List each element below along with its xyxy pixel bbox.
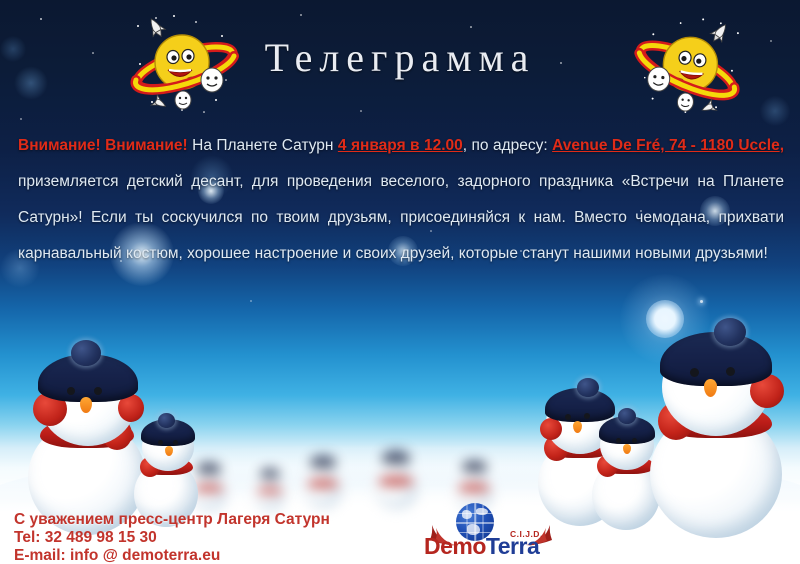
poster-header: Телеграмма: [0, 0, 800, 120]
footer-contact-block: С уважением пресс-центр Лагеря Сатурн Te…: [14, 511, 330, 564]
event-datetime: 4 января в 12.00: [338, 137, 463, 154]
footer-email: E-mail: info @ demoterra.eu: [14, 547, 330, 564]
telegram-body-text: Внимание! Внимание! На Планете Сатурн 4 …: [18, 128, 784, 272]
footer-phone: Tel: 32 489 98 15 30: [14, 529, 330, 547]
snowman-hat-pompom: [714, 318, 746, 346]
demoterra-logo: C.I.J.D. DemoTerra: [424, 503, 559, 561]
snowman-hat-pompom: [158, 413, 175, 428]
logo-word-demo: Demo: [424, 533, 486, 559]
snowman-earmuff-left: [540, 418, 562, 440]
background-snowman: [300, 455, 346, 507]
snowman-large-right: [642, 318, 800, 543]
background-snowman: [252, 468, 288, 510]
snowman-eye-left: [616, 438, 621, 443]
snowman-eye-right: [94, 387, 102, 395]
body-segment-plain-2: , по адресу:: [463, 137, 552, 154]
snowman-eye-right: [726, 367, 735, 376]
background-snowman: [370, 450, 422, 508]
winter-telegram-poster: Телеграмма: [0, 0, 800, 564]
body-segment-plain-3: приземляется детский десант, для проведе…: [18, 173, 784, 262]
saturn-planet-mascot-right: [622, 6, 751, 130]
snowman-eye-right: [173, 440, 178, 445]
snowman-eye-left: [158, 440, 163, 445]
logo-wordmark: DemoTerra: [424, 533, 559, 560]
body-segment-plain-1: На Планете Сатурн: [188, 137, 338, 154]
attention-callout: Внимание! Внимание!: [18, 137, 188, 154]
snowman-hat-pompom: [618, 408, 636, 424]
event-address: Avenue De Fré, 74 - 1180 Uccle: [552, 137, 780, 154]
snowman-hat-pompom: [577, 378, 599, 397]
snowman-eye-right: [632, 438, 637, 443]
snowman-hat-pompom: [71, 340, 101, 366]
snowman-eye-left: [565, 414, 571, 420]
address-comma: ,: [780, 137, 784, 154]
snowman-eye-left: [67, 387, 75, 395]
snowman-eye-left: [690, 368, 699, 377]
logo-word-terra: Terra: [486, 533, 539, 559]
footer-signature: С уважением пресс-центр Лагеря Сатурн: [14, 511, 330, 529]
